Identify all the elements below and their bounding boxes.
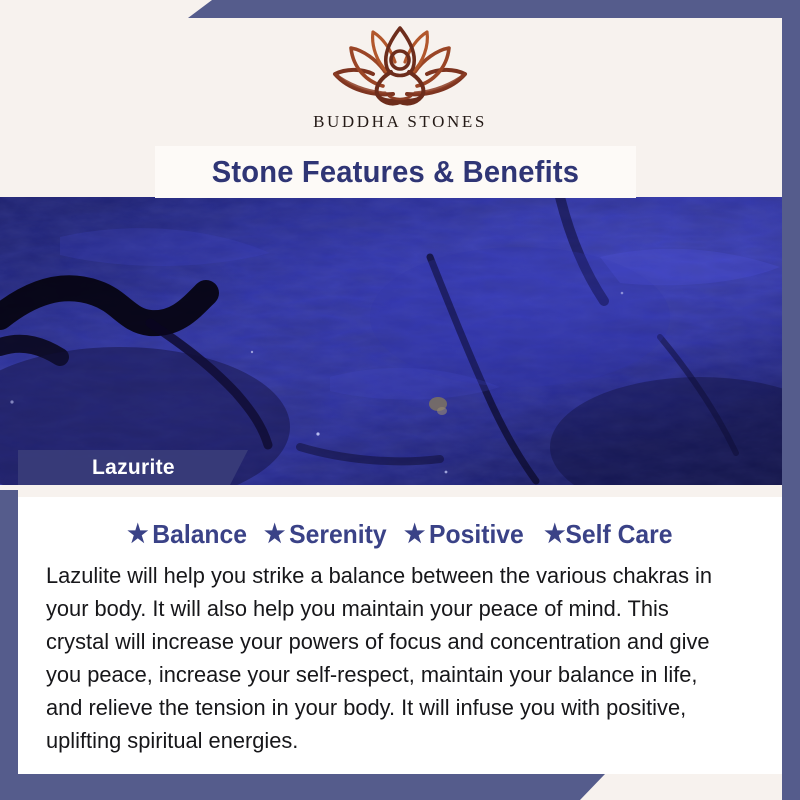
page-title: Stone Features & Benefits xyxy=(212,154,579,190)
keyword-positive: ★ Positive xyxy=(397,519,524,550)
frame-right-band xyxy=(782,0,800,800)
stone-info-poster: BUDDHA STONES xyxy=(0,0,800,800)
keyword-label: Self Care xyxy=(565,519,672,550)
star-icon: ★ xyxy=(127,522,148,547)
stone-name-label: Lazurite xyxy=(92,456,175,480)
keyword-label: Positive xyxy=(429,519,524,550)
lotus-meditation-icon xyxy=(315,22,485,110)
stone-photo xyxy=(0,197,800,485)
star-icon: ★ xyxy=(404,522,425,547)
content-card: ★ Balance ★ Serenity ★ Positive ★ Self C… xyxy=(18,497,782,774)
frame-bottom-band xyxy=(0,774,800,800)
star-icon: ★ xyxy=(544,522,565,547)
brand-name: BUDDHA STONES xyxy=(0,112,800,132)
star-icon: ★ xyxy=(264,522,285,547)
frame-left-band xyxy=(0,490,18,800)
stone-description: Lazulite will help you strike a balance … xyxy=(46,559,733,757)
page-title-banner: Stone Features & Benefits xyxy=(155,146,636,198)
brand-logo: BUDDHA STONES xyxy=(0,22,800,132)
keyword-serenity: ★ Serenity xyxy=(257,519,387,550)
keyword-label: Balance xyxy=(153,519,248,550)
keyword-balance: ★ Balance xyxy=(127,519,247,550)
header-area: BUDDHA STONES xyxy=(0,18,800,146)
stone-name-chip: Lazurite xyxy=(18,450,248,485)
frame-top-band xyxy=(0,0,800,18)
keyword-label: Serenity xyxy=(290,519,387,550)
keyword-list: ★ Balance ★ Serenity ★ Positive ★ Self C… xyxy=(18,497,782,550)
keyword-self-care: ★ Self Care xyxy=(534,519,672,550)
